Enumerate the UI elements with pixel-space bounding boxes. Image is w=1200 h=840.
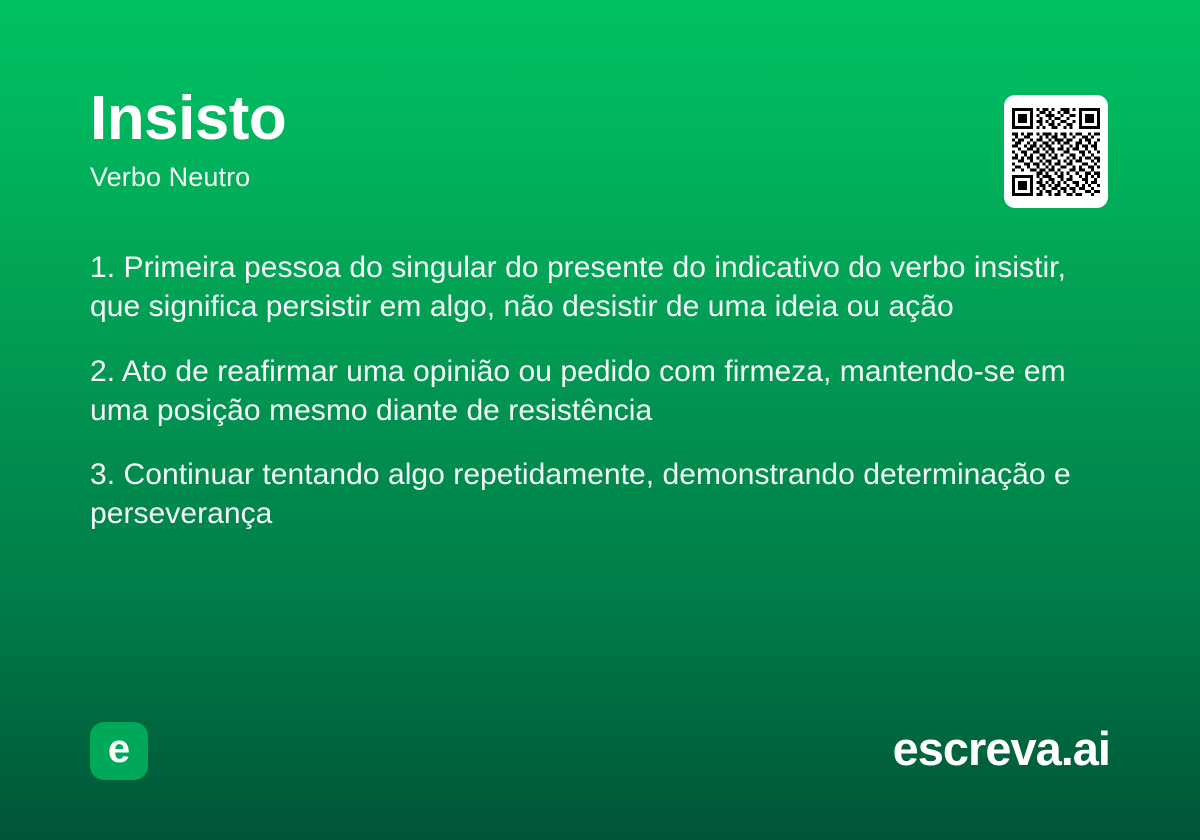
card-header: Insisto Verbo Neutro bbox=[90, 86, 950, 193]
qr-code-card[interactable] bbox=[1004, 95, 1108, 208]
brand-wordmark: escreva.ai bbox=[893, 720, 1110, 779]
definition-item-3: 3. Continuar tentando algo repetidamente… bbox=[90, 455, 1116, 534]
definition-list: 1. Primeira pessoa do singular do presen… bbox=[90, 248, 1116, 534]
definition-item-1: 1. Primeira pessoa do singular do presen… bbox=[90, 248, 1116, 327]
brand-logo-letter: e bbox=[108, 729, 130, 769]
word-class-label: Verbo Neutro bbox=[90, 161, 950, 193]
qr-code-icon bbox=[1012, 108, 1100, 196]
definition-item-2: 2. Ato de reafirmar uma opinião ou pedid… bbox=[90, 352, 1116, 431]
definition-card: Insisto Verbo Neutro bbox=[0, 0, 1200, 840]
brand-logo-badge: e bbox=[90, 722, 148, 780]
card-footer: e escreva.ai bbox=[0, 700, 1200, 840]
page-title: Insisto bbox=[90, 86, 950, 151]
